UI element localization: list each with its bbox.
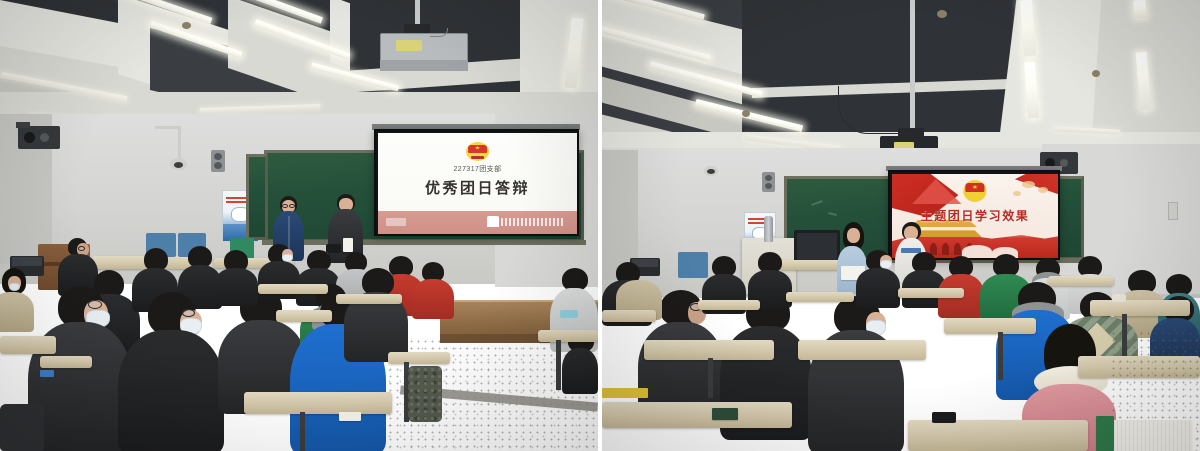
thermos-flask — [764, 216, 773, 242]
desk-leg — [300, 412, 305, 451]
speaker-bracket — [16, 122, 30, 128]
wall-conduit — [178, 128, 181, 160]
desk-leg — [556, 340, 561, 390]
notebook — [339, 412, 361, 421]
student-desk — [698, 300, 760, 310]
student-torso — [214, 268, 258, 306]
desk-item — [560, 310, 578, 318]
projector-cable — [838, 86, 910, 134]
seated-student — [938, 256, 984, 314]
wall-speaker — [18, 126, 60, 149]
smoke-detector-icon — [182, 22, 191, 29]
slide-subtitle: 227317团支部 — [378, 164, 577, 174]
student-desk — [244, 392, 392, 414]
desk-leg — [998, 332, 1003, 380]
student-torso — [412, 279, 454, 319]
ceiling-tube-light — [1133, 0, 1147, 18]
dome-security-camera — [170, 158, 187, 170]
projector-lens-icon — [396, 40, 422, 51]
projection-screen: 227317团支部 优秀团日答辩 — [374, 129, 579, 236]
wall-socket — [1168, 202, 1178, 220]
glasses-icon — [282, 204, 288, 208]
speaker-cone-icon — [214, 162, 222, 169]
ceiling-projector — [380, 33, 468, 63]
smoke-detector-icon — [742, 110, 750, 117]
presentation-slide: 227317团支部 优秀团日答辩 — [378, 133, 577, 234]
youth-league-emblem-icon — [466, 142, 490, 161]
worksheet — [1096, 416, 1114, 451]
smoke-detector-icon — [1092, 70, 1100, 77]
speaker-cone-icon — [24, 132, 35, 143]
green-chalkboard-left-wing — [246, 154, 268, 240]
student-torso — [118, 330, 224, 451]
slide-footer-band — [378, 211, 577, 234]
wall-conduit — [155, 126, 181, 129]
mobile-phone — [326, 244, 341, 253]
dome-security-camera — [704, 166, 718, 176]
student-desk — [602, 402, 792, 428]
slide-title: 优秀团日答辩 — [378, 177, 577, 198]
smoke-detector-icon — [937, 10, 947, 18]
seated-student — [808, 296, 904, 451]
slide-footer-tag — [386, 218, 406, 225]
speaker-cone-icon — [765, 175, 772, 181]
student-desk — [258, 284, 328, 294]
slide-footer-text — [501, 218, 565, 226]
projector-mount-pole — [910, 0, 915, 132]
student-torso — [562, 348, 598, 394]
backpack — [0, 404, 44, 451]
glasses-icon — [78, 246, 85, 251]
speaker-cone-icon — [40, 133, 49, 142]
projector-base — [380, 60, 468, 71]
student-desk — [786, 292, 854, 302]
student-desk — [944, 318, 1036, 334]
desk-item — [1112, 294, 1126, 302]
student-desk — [336, 294, 402, 304]
student-desk — [798, 340, 926, 360]
student-desk — [898, 288, 964, 298]
podium-monitor — [794, 230, 840, 264]
cloud-decoration — [1038, 187, 1048, 193]
desk-item — [602, 388, 648, 398]
slide-footer-logo-icon — [487, 216, 499, 227]
seated-student — [344, 268, 408, 358]
student-desk — [1048, 276, 1114, 286]
glasses-icon — [289, 204, 295, 208]
left-photo: 227317团支部 优秀团日答辩 — [0, 0, 598, 451]
youth-league-emblem-icon — [963, 180, 986, 202]
worksheet — [1102, 420, 1192, 451]
speaker-cone-icon — [214, 153, 222, 160]
student-desk — [388, 352, 450, 364]
right-photo: 主题团日学习效果 — [602, 0, 1200, 451]
glasses-icon — [88, 300, 102, 309]
face-mask — [9, 283, 20, 291]
notebook — [712, 408, 738, 420]
cloud-decoration — [1022, 181, 1035, 188]
chalk-tray — [262, 240, 586, 245]
cloud-decoration — [1013, 191, 1021, 196]
student-desk — [276, 310, 332, 322]
student-desk — [0, 336, 56, 354]
student-torso — [856, 268, 900, 308]
desk-item — [40, 370, 54, 377]
glasses-icon — [182, 309, 195, 317]
seated-student — [214, 250, 258, 302]
wall-speaker — [211, 150, 225, 172]
photo-pair-composite: 227317团支部 优秀团日答辩 — [0, 0, 1200, 451]
speaker-cone-icon — [765, 183, 772, 189]
seated-student — [856, 250, 900, 304]
student-desk — [908, 420, 1088, 451]
student-desk — [538, 330, 598, 342]
desk-leg — [708, 358, 713, 398]
seated-student — [412, 262, 454, 314]
presenter-notes — [343, 238, 353, 252]
backpack — [408, 366, 442, 422]
wall-speaker — [762, 172, 775, 192]
student-desk — [602, 310, 656, 322]
student-desk — [40, 356, 92, 368]
student-desk — [644, 340, 774, 360]
presenter-face — [847, 228, 860, 243]
mobile-phone — [932, 412, 956, 423]
student-desk — [1090, 300, 1190, 316]
seated-student — [118, 292, 224, 451]
